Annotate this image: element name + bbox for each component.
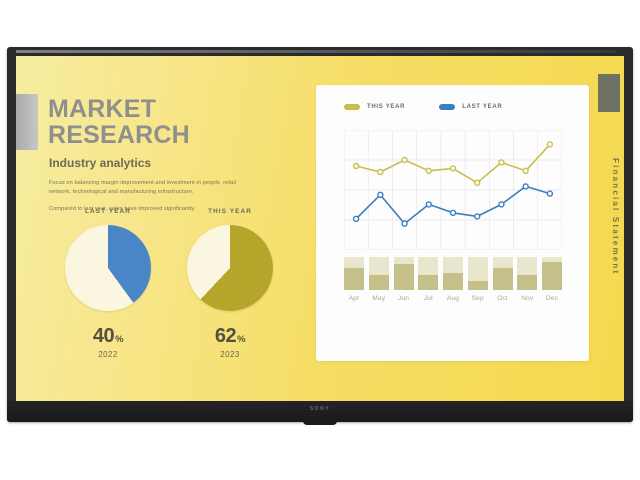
pie-percent-unit: %: [115, 334, 123, 345]
body-paragraph-1: Focus on balancing margin improvement an…: [49, 179, 254, 197]
pie-chart-this-year: [187, 225, 273, 311]
legend-item-this-year: THIS YEAR: [344, 104, 405, 110]
x-axis-label: Nov: [517, 295, 537, 302]
bar-fill: [517, 275, 537, 290]
pie-year: 2023: [170, 350, 290, 359]
side-label: Financial Statement: [598, 122, 620, 312]
bar-fill: [394, 264, 414, 290]
pie-percent: 62%: [170, 325, 290, 348]
bar-fill: [418, 275, 438, 290]
pie-block-last-year: LAST YEAR 40% 2022: [48, 208, 168, 359]
brand-logo: SONY: [310, 406, 331, 412]
bar-column: [517, 257, 537, 290]
bar-fill: [443, 273, 463, 290]
pie-chart-last-year: [65, 225, 151, 311]
bar-column: [542, 257, 562, 290]
x-axis-label: May: [369, 295, 389, 302]
bar-fill: [468, 281, 488, 290]
x-axis-label: Oct: [493, 295, 513, 302]
x-axis-label: Apr: [344, 295, 364, 302]
bar-fill: [542, 262, 562, 290]
legend-label: LAST YEAR: [462, 104, 502, 110]
display-screen: Financial Statement MARKET RESEARCH Indu…: [16, 56, 624, 401]
x-axis-labels: AprMayJunJulAugSepOctNovDec: [344, 295, 562, 302]
pie-wrap: [187, 225, 273, 311]
page-subtitle: Industry analytics: [49, 156, 303, 170]
bar-fill: [344, 268, 364, 290]
legend-swatch-icon: [344, 104, 360, 110]
bar-column: [394, 257, 414, 290]
decor-right-block: [598, 74, 620, 112]
x-axis-label: Jul: [418, 295, 438, 302]
pie-percent-value: 62: [215, 325, 236, 347]
monitor-frame: Financial Statement MARKET RESEARCH Indu…: [7, 47, 633, 422]
x-axis-label: Sep: [468, 295, 488, 302]
pie-percent-unit: %: [237, 334, 245, 345]
bar-strip: [344, 257, 562, 290]
x-axis-label: Aug: [443, 295, 463, 302]
decor-left-block: [16, 94, 38, 150]
legend-label: THIS YEAR: [367, 104, 405, 110]
bar-column: [443, 257, 463, 290]
bar-column: [493, 257, 513, 290]
bar-fill: [493, 268, 513, 290]
x-axis-label: Dec: [542, 295, 562, 302]
stand-nub: [303, 419, 337, 425]
legend-item-last-year: LAST YEAR: [439, 104, 502, 110]
bar-column: [468, 257, 488, 290]
line-plot: [344, 130, 562, 250]
pie-caption: LAST YEAR: [48, 208, 168, 215]
slide-text-column: MARKET RESEARCH Industry analytics Focus…: [48, 96, 303, 214]
pie-block-this-year: THIS YEAR 62% 2023: [170, 208, 290, 359]
pie-percent-value: 40: [93, 325, 114, 347]
chart-legend: THIS YEAR LAST YEAR: [344, 104, 502, 110]
bar-fill: [369, 275, 389, 290]
x-axis-label: Jun: [394, 295, 414, 302]
bar-column: [344, 257, 364, 290]
chart-card: THIS YEAR LAST YEAR AprMayJunJulAugSepOc…: [316, 85, 589, 361]
pie-percent: 40%: [48, 325, 168, 348]
pie-wrap: [65, 225, 151, 311]
bar-column: [369, 257, 389, 290]
pie-caption: THIS YEAR: [170, 208, 290, 215]
page-title: MARKET RESEARCH: [48, 96, 303, 149]
pie-year: 2022: [48, 350, 168, 359]
legend-swatch-icon: [439, 104, 455, 110]
bezel-highlight: [16, 50, 616, 53]
bar-column: [418, 257, 438, 290]
